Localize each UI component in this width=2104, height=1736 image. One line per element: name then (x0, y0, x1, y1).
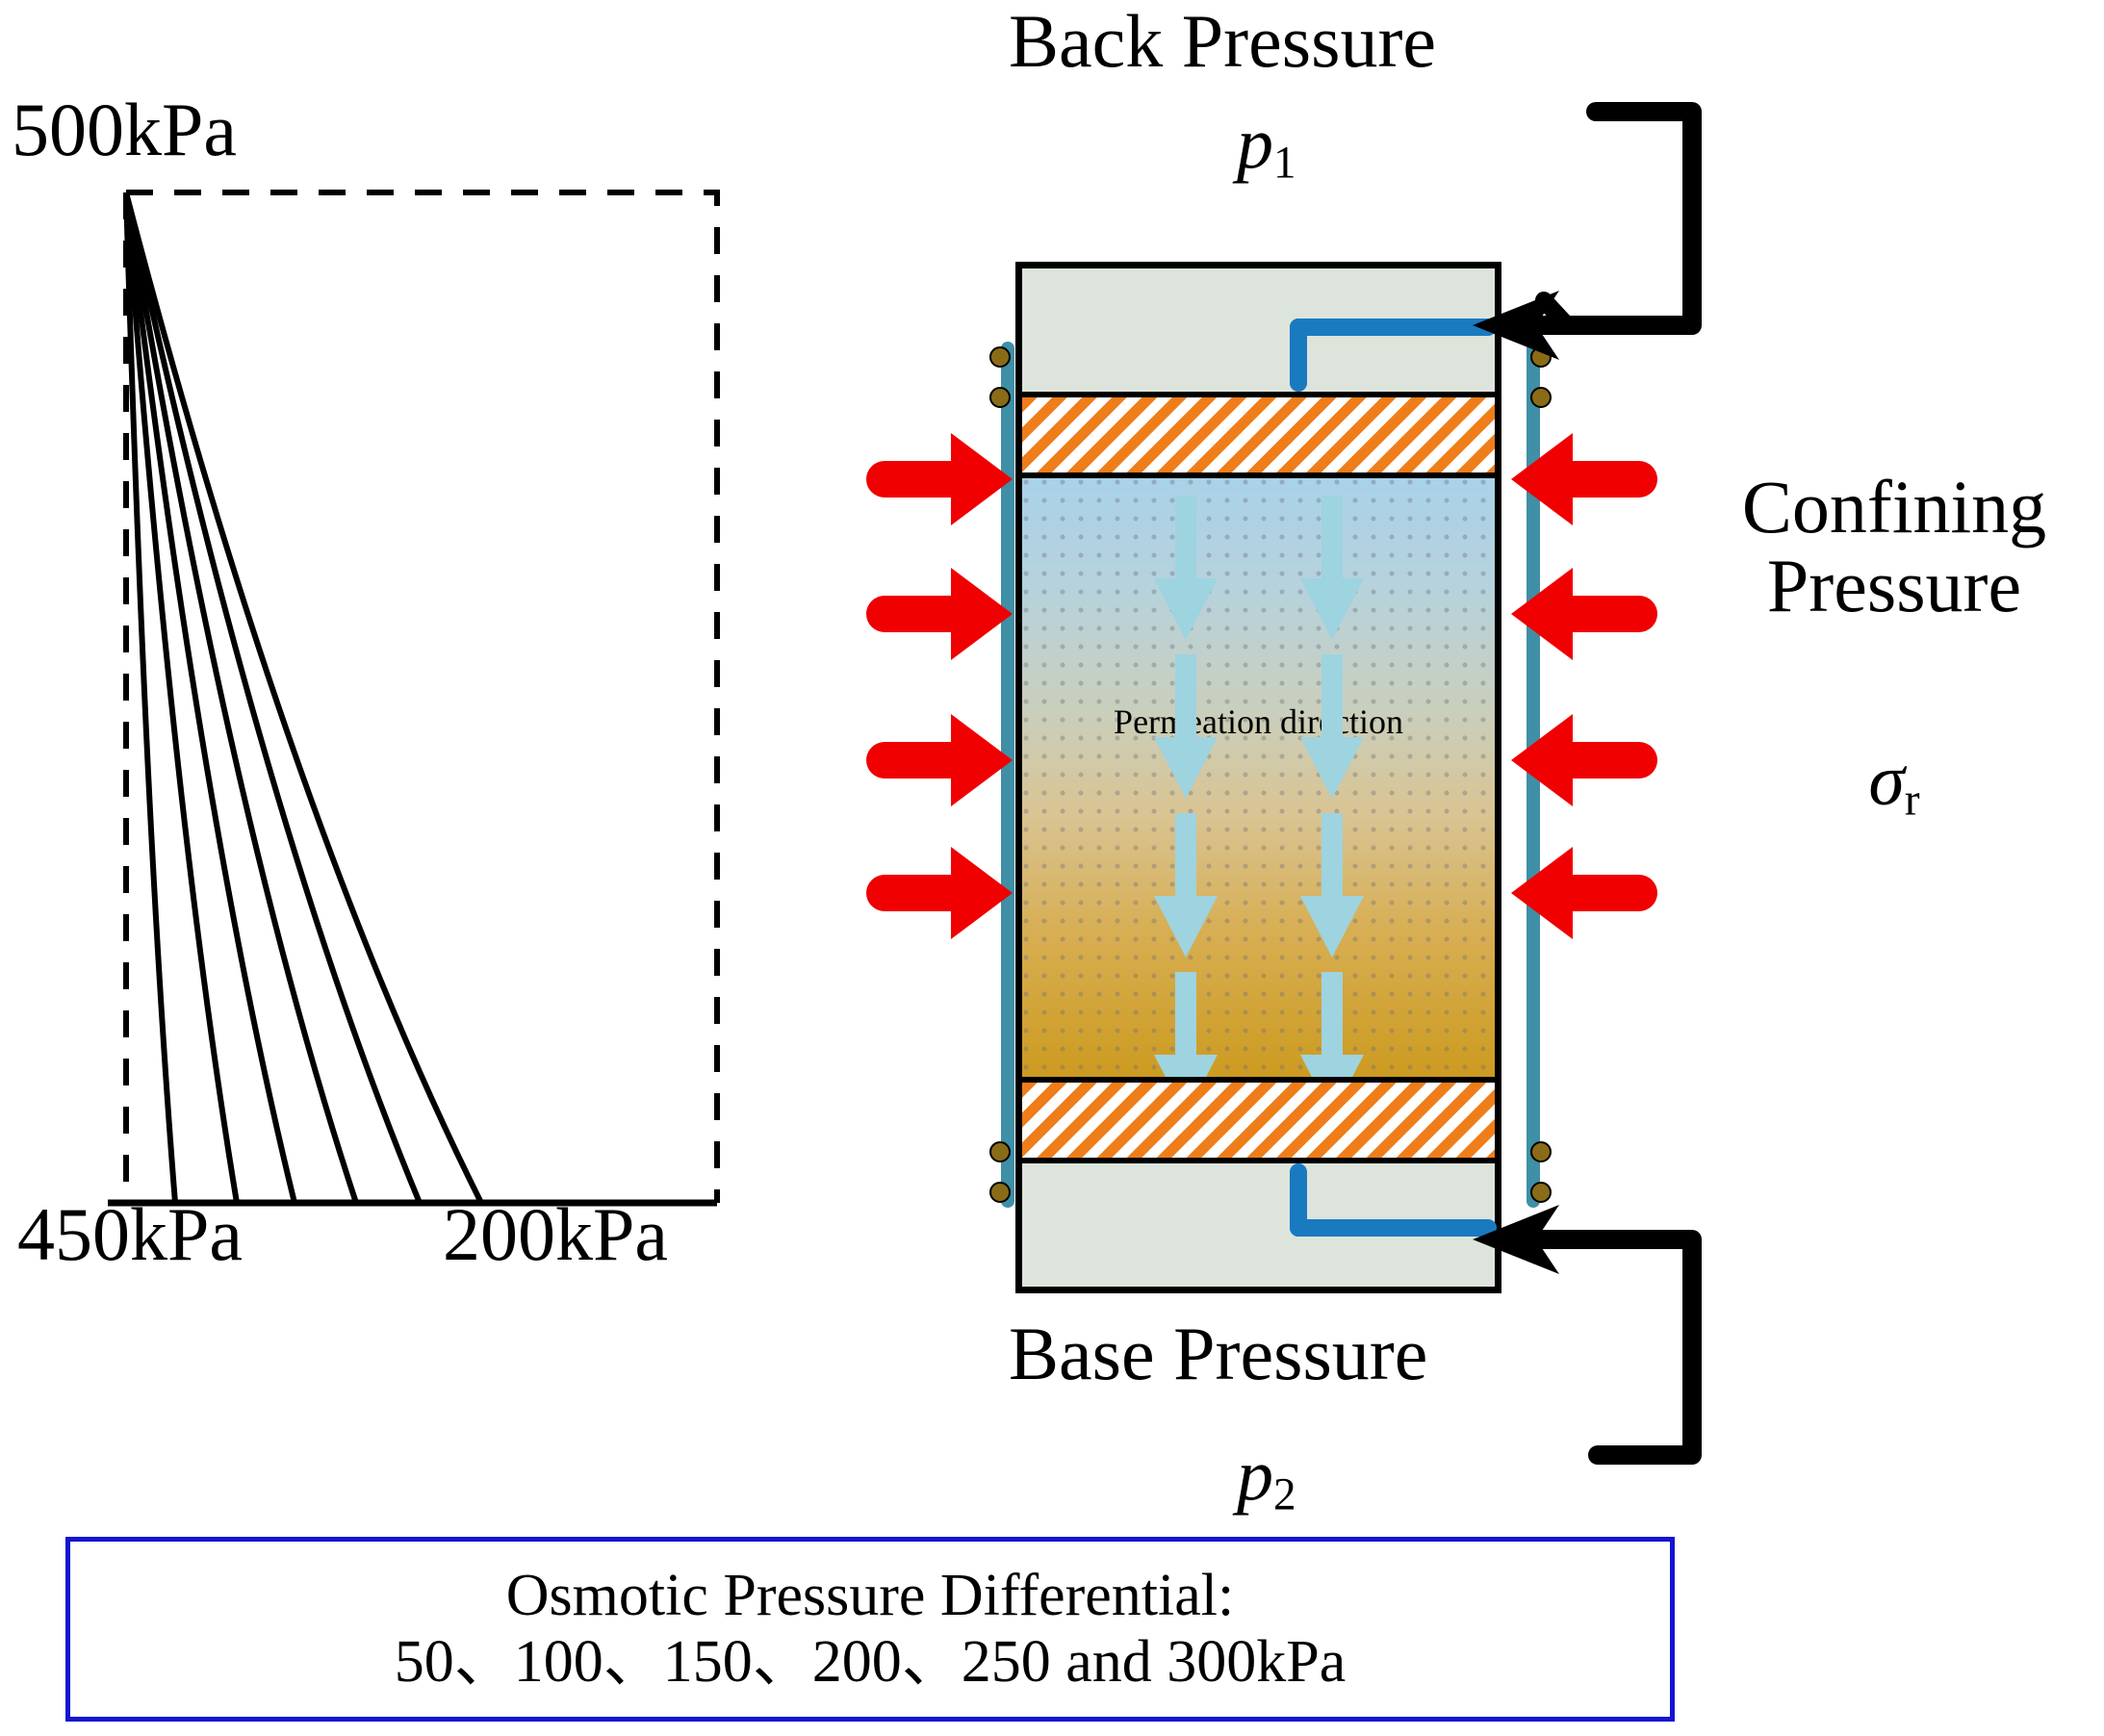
confining-pressure-line1: Confining (1702, 468, 2087, 547)
back-pressure-symbol-subscript: 1 (1273, 138, 1296, 188)
back-pressure-label: Back Pressure (1009, 4, 1436, 79)
confining-pressure-symbol-letter: σ (1868, 740, 1904, 821)
confining-pressure-line2: Pressure (1702, 547, 2087, 625)
confining-arrow-right-3 (1511, 714, 1657, 806)
confining-arrow-left-2 (866, 568, 1013, 660)
confining-pressure-symbol-subscript: r (1905, 775, 1920, 825)
osmotic-pressure-differential-box: Osmotic Pressure Differential: 50、100、15… (65, 1537, 1675, 1722)
base-pressure-symbol-letter: p (1237, 1435, 1273, 1516)
base-pressure-symbol-subscript: 2 (1273, 1469, 1296, 1519)
osmotic-title: Osmotic Pressure Differential: (506, 1563, 1234, 1629)
base-pressure-symbol: p2 (1237, 1434, 1296, 1520)
back-pressure-symbol: p1 (1237, 102, 1296, 189)
confining-pressure-label: Confining Pressure (1702, 468, 2087, 625)
confining-arrow-right-1 (1511, 433, 1657, 525)
confining-arrow-left-3 (866, 714, 1013, 806)
confining-arrow-left-1 (866, 433, 1013, 525)
osmotic-values: 50、100、150、200、250 and 300kPa (395, 1629, 1347, 1696)
base-pressure-pipe (1540, 1239, 1692, 1455)
confining-pressure-symbol: σr (1702, 739, 2087, 826)
back-pressure-pipe (1540, 112, 1692, 325)
base-pressure-label: Base Pressure (1009, 1316, 1427, 1391)
back-pressure-symbol-letter: p (1237, 103, 1273, 184)
diagram-overlay (0, 0, 2104, 1736)
confining-arrow-right-4 (1511, 847, 1657, 939)
confining-arrow-left-4 (866, 847, 1013, 939)
confining-arrow-right-2 (1511, 568, 1657, 660)
